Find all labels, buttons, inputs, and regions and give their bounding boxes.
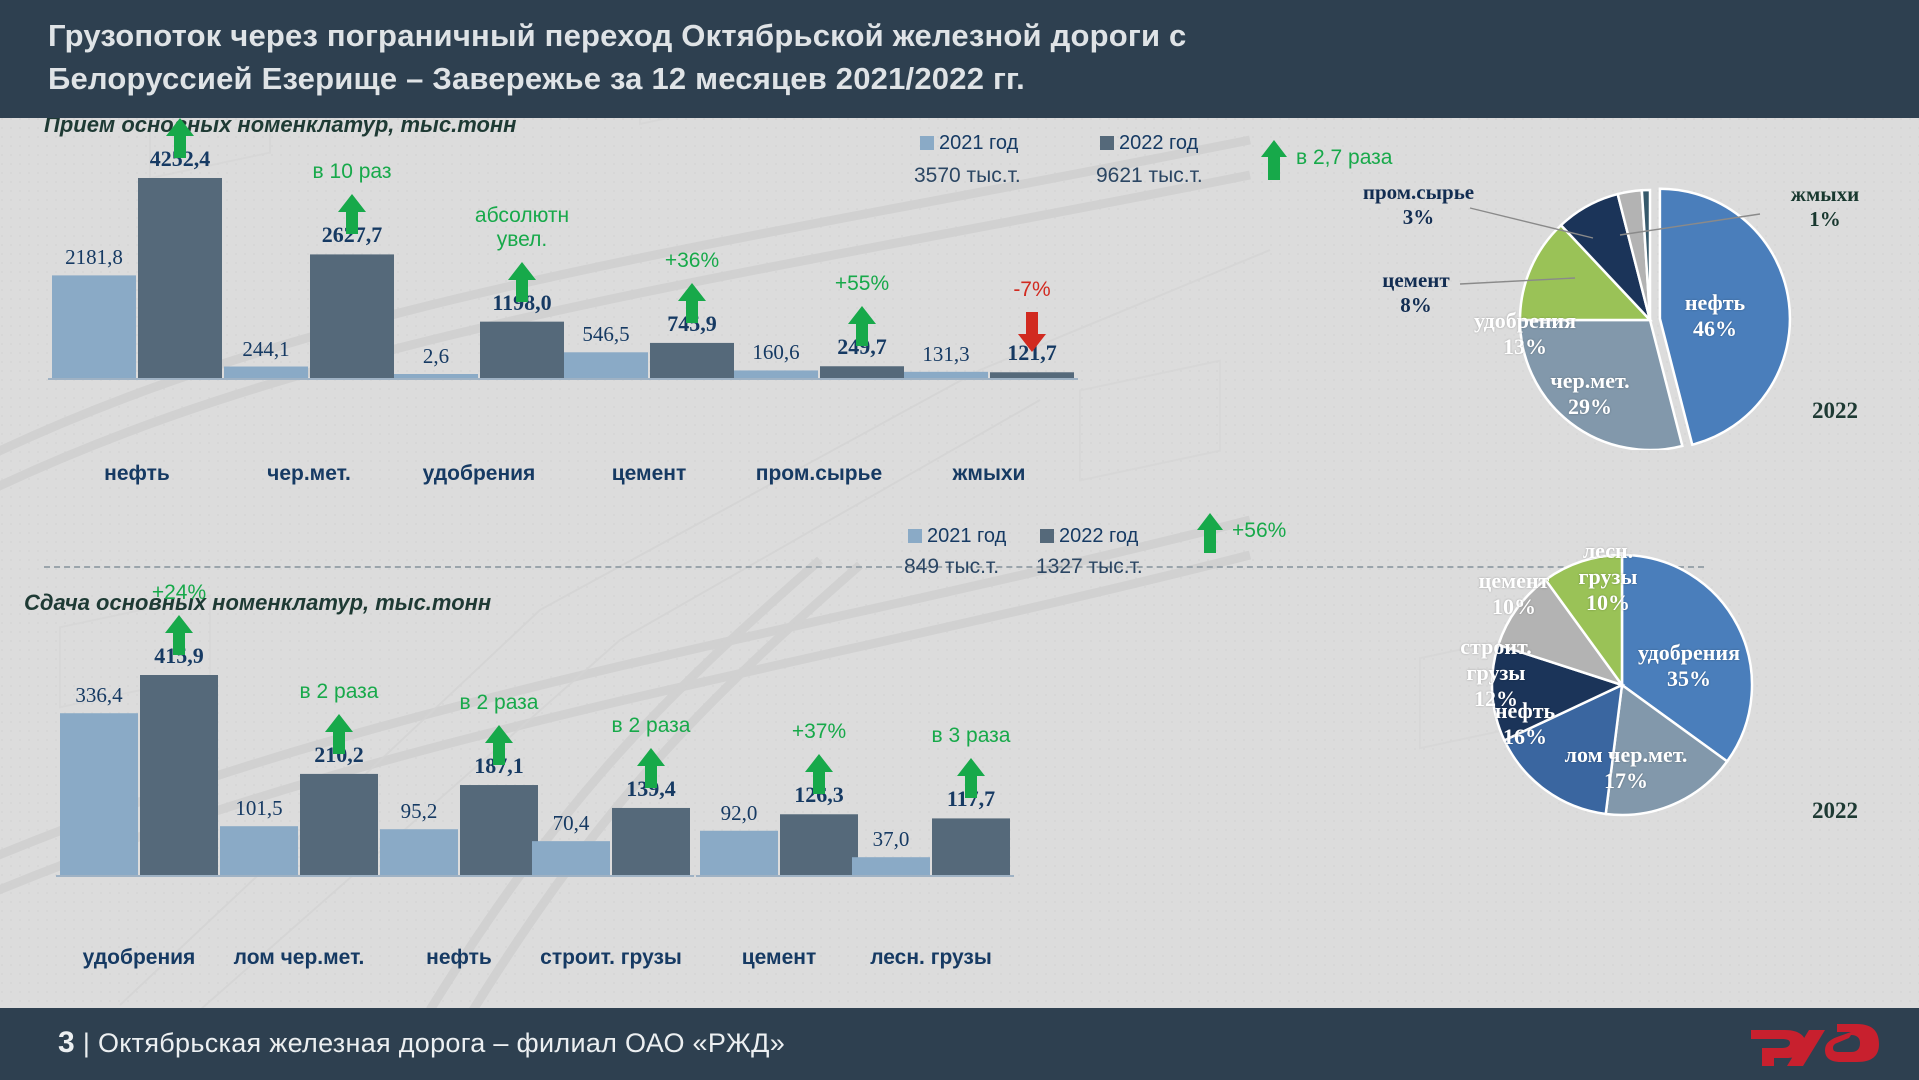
legend-swatch-2021 (908, 529, 922, 543)
up-arrow-icon (164, 613, 194, 657)
pie-slice-label: удобрения 13% (1460, 308, 1590, 360)
footer-org-name: Октябрьская железная дорога – филиал ОАО… (98, 1028, 785, 1058)
legend-label-2021: 2021 год (927, 525, 1006, 547)
bottom-pie-year: 2022 (1812, 798, 1858, 824)
bar-value-2021: 101,5 (199, 796, 319, 821)
title-crossing-name: Езерище – Заверeжье (262, 61, 602, 96)
pie-slice-label: чер.мет. 29% (1520, 368, 1660, 420)
up-arrow-icon (484, 723, 514, 767)
legend-total-delta: в 2,7 раза (1296, 146, 1392, 170)
legend-total-2022: 1327 тыс.т. (1036, 555, 1143, 579)
legend-label-2022: 2022 год (1119, 132, 1198, 154)
up-arrow-icon (507, 260, 537, 304)
bar-delta-label: +37% (739, 720, 899, 744)
up-arrow-icon (677, 281, 707, 325)
top-pie-year: 2022 (1812, 398, 1858, 424)
pie-slice-label: лесн. грузы 10% (1558, 538, 1658, 616)
up-arrow-icon (847, 304, 877, 348)
bottom-chart-annotations: 336,4415,9+24%101,5210,2в 2 раза95,2187,… (12, 630, 1202, 940)
down-arrow-icon (1017, 310, 1047, 354)
title-line-2-suffix: за 12 месяцев 2021/2022 гг. (601, 61, 1025, 96)
legend-total-2022: 9621 тыс.т. (1096, 164, 1203, 188)
legend-item-2021: 2021 год (920, 132, 1018, 155)
legend-total-delta: +56% (1232, 519, 1286, 543)
bar-value-2021: 2,6 (376, 344, 496, 369)
pie-slice-label: удобрения 35% (1630, 640, 1748, 692)
top-chart-legend: 2021 год 2022 год 3570 тыс.т. 9621 тыс.т… (920, 132, 1320, 202)
bar-delta-label: +36% (612, 249, 772, 273)
bottom-chart-legend: 2021 год 2022 год 849 тыс.т. 1327 тыс.т.… (908, 525, 1308, 595)
legend-swatch-2021 (920, 136, 934, 150)
bar-delta-label: -7% (952, 278, 1112, 302)
bar-delta-label: +24% (99, 581, 259, 605)
pie-slice-label: цемент 8% (1356, 268, 1476, 318)
up-arrow-icon (636, 746, 666, 790)
footer-page-number: 3 (58, 1026, 75, 1059)
category-label: жмыхи (889, 462, 1089, 486)
top-pie-chart: нефть 46%чер.мет. 29%удобрения 13%цемент… (1350, 150, 1910, 450)
pie-slice-label: пром.сырье 3% (1356, 180, 1481, 230)
bar-delta-label: абсолютнувел. (442, 204, 602, 252)
category-label: лесн. грузы (831, 946, 1031, 970)
bar-delta-label: в 3 раза (891, 724, 1051, 748)
bar-delta-label: в 10 раз (272, 160, 432, 184)
page-header: Грузопоток через пограничный переход Окт… (0, 0, 1919, 118)
up-arrow-icon (804, 752, 834, 796)
pie-slice-label: цемент 10% (1454, 568, 1574, 620)
bar-value-2021: 336,4 (39, 683, 159, 708)
top-chart-categories: нефтьчер.мет.удобренияцементпром.сырьежм… (44, 462, 1314, 502)
page-footer: 3 | Октябрьская железная дорога – филиал… (0, 1008, 1919, 1080)
up-arrow-icon (165, 116, 195, 160)
legend-item-2022: 2022 год (1100, 132, 1198, 155)
bar-value-2021: 244,1 (206, 337, 326, 362)
bar-delta-label: в 2 раза (571, 714, 731, 738)
bar-value-2021: 70,4 (511, 811, 631, 836)
legend-label-2022: 2022 год (1059, 525, 1138, 547)
legend-item-2022: 2022 год (1040, 525, 1138, 548)
category-label: нефть (37, 462, 237, 486)
rzd-logo (1749, 1022, 1889, 1066)
bar-value-2021: 95,2 (359, 799, 479, 824)
bottom-pie-chart: удобрения 35%лом чер.мет. 17%нефть 16%ст… (1350, 520, 1910, 830)
title-line-2-prefix: Белоруссией (48, 61, 262, 96)
legend-label-2021: 2021 год (939, 132, 1018, 154)
bar-value-2021: 2181,8 (34, 245, 154, 270)
footer-text: 3 | Октябрьская железная дорога – филиал… (58, 1026, 785, 1060)
legend-item-2021: 2021 год (908, 525, 1006, 548)
legend-swatch-2022 (1040, 529, 1054, 543)
bar-value-2021: 37,0 (831, 827, 951, 852)
footer-separator: | (83, 1028, 90, 1058)
bar-delta-label: в 2 раза (419, 691, 579, 715)
bar-delta-label: в 2 раза (259, 680, 419, 704)
pie-slice-label: лом чер.мет. 17% (1562, 742, 1690, 794)
title-line-1: Грузопоток через пограничный переход Окт… (48, 18, 1186, 53)
up-arrow-icon (324, 712, 354, 756)
pie-slice-label: нефть 46% (1650, 290, 1780, 342)
up-arrow-icon (337, 192, 367, 236)
total-up-arrow-icon (1260, 138, 1288, 182)
up-arrow-icon (956, 756, 986, 800)
total-up-arrow-icon (1196, 511, 1224, 555)
bottom-chart-categories: удобрениялом чер.мет.нефтьстроит. грузыц… (12, 946, 1202, 986)
pie-slice-label: строит. грузы 12% (1436, 634, 1556, 712)
legend-swatch-2022 (1100, 136, 1114, 150)
pie-slice-label: жмыхи 1% (1760, 182, 1890, 232)
page-title: Грузопоток через пограничный переход Окт… (48, 14, 1748, 100)
bar-delta-label: +55% (782, 272, 942, 296)
legend-total-2021: 3570 тыс.т. (914, 164, 1021, 188)
legend-total-2021: 849 тыс.т. (904, 555, 999, 579)
